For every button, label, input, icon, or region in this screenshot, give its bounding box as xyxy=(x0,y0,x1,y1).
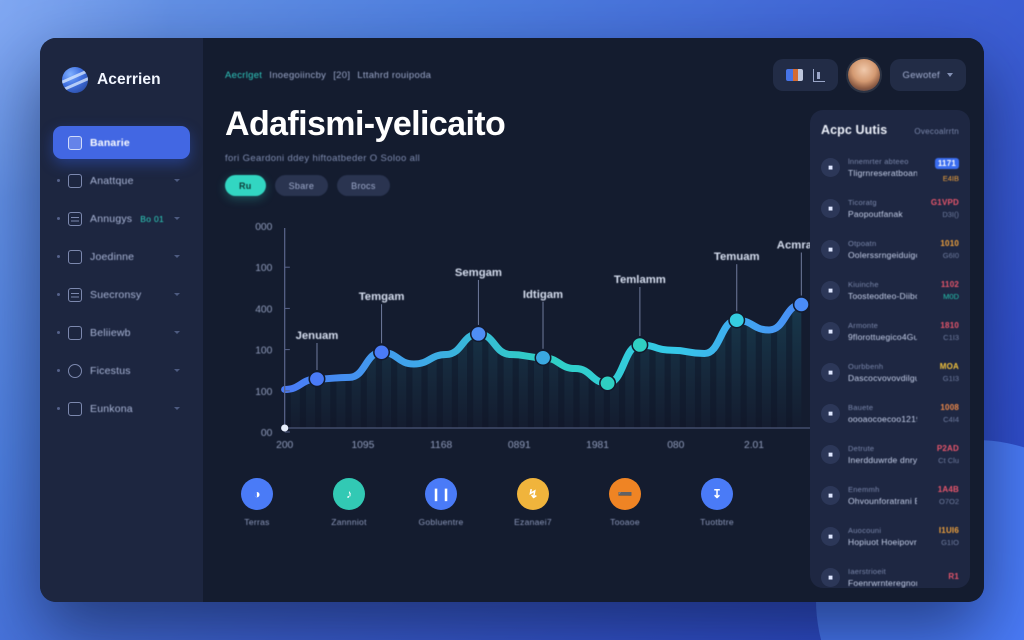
bullet-icon xyxy=(57,179,60,182)
list-item-text: OurbbenhDascocvovovdilgu xyxy=(848,362,917,383)
svg-text:Semgam: Semgam xyxy=(455,267,502,279)
sidebar-item-5[interactable]: Beliiewb xyxy=(53,316,190,349)
right-panel-link[interactable]: Ovecoalrrtn xyxy=(914,127,959,136)
filter-chip-0[interactable]: Ru xyxy=(225,175,266,196)
status-badge: 1008 xyxy=(925,403,959,412)
circle-info-icon: ◑ xyxy=(241,478,273,510)
stat-item-1[interactable]: ♪Zannniot xyxy=(325,478,373,527)
chevron-down-icon xyxy=(174,293,180,296)
globe-logo-icon xyxy=(62,67,88,93)
battery-icon: ■ xyxy=(821,363,840,382)
right-panel-title: Acpc Uutis xyxy=(821,123,887,137)
music-note-icon: ♪ xyxy=(333,478,365,510)
list-item-values: 1171E4IB xyxy=(925,153,959,183)
filter-chip-1[interactable]: Sbare xyxy=(275,175,329,196)
topbar-actions: Gewotef xyxy=(773,59,966,91)
topbar: AecrlgetInoegoiincby[20]Lttahrd rouipoda… xyxy=(225,58,966,92)
sidebar-item-1[interactable]: Anattque xyxy=(53,164,190,197)
list-item[interactable]: ■TicoratgPaopoutfanakG1VPDD3I() xyxy=(821,188,959,229)
status-badge: G1VPD xyxy=(925,198,959,207)
stat-item-2[interactable]: ❙❙Gobluentre xyxy=(417,478,465,527)
status-badge: P2AD xyxy=(925,444,959,453)
pause-icon: ❙❙ xyxy=(425,478,457,510)
list-item-title: Dascocvovovdilgu xyxy=(848,373,917,383)
status-badge: I1UI6 xyxy=(925,526,959,535)
sidebar: Acerrien BanarieAnattqueAnnugysBo 01Joed… xyxy=(40,38,203,602)
list-item[interactable]: ■EnemmhOhvounforatrani EDI81A4BO7O2 xyxy=(821,475,959,516)
lock-icon: ■ xyxy=(821,322,840,341)
status-badge: 1010 xyxy=(925,239,959,248)
list-icon xyxy=(68,288,82,302)
status-badge: 1171 xyxy=(935,158,959,169)
svg-text:200: 200 xyxy=(276,440,294,451)
stat-label: Tooaoe xyxy=(610,517,640,527)
stat-icon-row: ◑Terras♪Zannniot❙❙Gobluentre↯Ezanaei7➖To… xyxy=(233,478,741,527)
document-icon xyxy=(68,250,82,264)
brand[interactable]: Acerrien xyxy=(40,60,203,100)
status-badge: 1102 xyxy=(925,280,959,289)
bolt-icon: ↯ xyxy=(517,478,549,510)
breadcrumb-item-3[interactable]: Lttahrd rouipoda xyxy=(357,70,431,81)
filter-chip-2[interactable]: Brocs xyxy=(337,175,390,196)
list-item-subtitle: Kiuinche xyxy=(848,280,917,289)
sidebar-item-0[interactable]: Banarie xyxy=(53,126,190,159)
stat-label: Gobluentre xyxy=(418,517,463,527)
list-item[interactable]: ■OtpoatnOolerssrngeiduigc1010G6I0 xyxy=(821,229,959,270)
list-item-title: oooaocoecoo1219 xyxy=(848,414,917,424)
list-item-text: IaerstrioeitFoenrwrnteregnonctrie xyxy=(848,567,917,588)
svg-text:400: 400 xyxy=(255,305,273,316)
svg-text:100: 100 xyxy=(255,346,273,357)
list-item-values: MOAG1I3 xyxy=(925,362,959,383)
list-item[interactable]: ■DetruteInerdduwrde dnryP2ADCt Clu xyxy=(821,434,959,475)
stat-item-4[interactable]: ➖Tooaoe xyxy=(601,478,649,527)
svg-text:1981: 1981 xyxy=(586,440,609,451)
chevron-down-icon xyxy=(174,217,180,220)
list-item-subtitle: Auocouni xyxy=(848,526,917,535)
bullet-icon xyxy=(57,217,60,220)
sidebar-item-label: Banarie xyxy=(90,137,180,149)
list-item-values: I1UI6G1IO xyxy=(925,526,959,547)
list-item-text: DetruteInerdduwrde dnry xyxy=(848,444,917,465)
list-item-values: 1810C1I3 xyxy=(925,321,959,342)
app-window: Acerrien BanarieAnattqueAnnugysBo 01Joed… xyxy=(40,38,984,602)
list-item[interactable]: ■lnnemrter abteeoTligrnreseratboan1171E4… xyxy=(821,147,959,188)
sidebar-item-label: Suecronsy xyxy=(90,289,166,301)
grid-icon: ■ xyxy=(821,527,840,546)
list-item-meta: D3I() xyxy=(925,210,959,219)
dashboard-icon xyxy=(68,136,82,150)
breadcrumb-item-0[interactable]: Aecrlget xyxy=(225,70,262,81)
main-content: AecrlgetInoegoiincby[20]Lttahrd rouipoda… xyxy=(203,38,984,602)
cloud-icon: ■ xyxy=(821,199,840,218)
flag-icon xyxy=(786,69,803,81)
alert-icon: ■ xyxy=(821,240,840,259)
breadcrumb-item-1[interactable]: Inoegoiincby xyxy=(269,70,326,81)
clock-icon: ■ xyxy=(821,281,840,300)
right-panel: Acpc Uutis Ovecoalrrtn ■lnnemrter abteeo… xyxy=(810,110,970,588)
sidebar-item-3[interactable]: Joedinne xyxy=(53,240,190,273)
bar-chart-icon xyxy=(813,69,825,82)
list-item-subtitle: Detrute xyxy=(848,444,917,453)
list-item[interactable]: ■OurbbenhDascocvovovdilguMOAG1I3 xyxy=(821,352,959,393)
chevron-down-icon xyxy=(174,179,180,182)
toolbar-pill[interactable] xyxy=(773,59,838,91)
list-item-meta: G1IO xyxy=(925,538,959,547)
bullet-icon xyxy=(57,407,60,410)
monitor-icon: ■ xyxy=(821,486,840,505)
svg-text:080: 080 xyxy=(667,440,685,451)
svg-text:Jenuam: Jenuam xyxy=(296,330,339,342)
stat-label: Zannniot xyxy=(331,517,366,527)
calendar-icon xyxy=(68,174,82,188)
list-item-text: lnnemrter abteeoTligrnreseratboan xyxy=(848,157,917,178)
minus-icon: ➖ xyxy=(609,478,641,510)
list-item-values: 1A4BO7O2 xyxy=(925,485,959,506)
sidebar-item-label: Ficestus xyxy=(90,365,166,377)
sidebar-item-label: Annugys xyxy=(90,213,132,225)
list-item-text: OtpoatnOolerssrngeiduigc xyxy=(848,239,917,260)
stat-item-3[interactable]: ↯Ezanaei7 xyxy=(509,478,557,527)
list-item-subtitle: Otpoatn xyxy=(848,239,917,248)
list-item-subtitle: lnnemrter abteeo xyxy=(848,157,917,166)
sidebar-item-6[interactable]: Ficestus xyxy=(53,354,190,387)
list-item-meta: G1I3 xyxy=(925,374,959,383)
badge-icon xyxy=(68,402,82,416)
list-item-title: Toosteodteo-Diibcae xyxy=(848,291,917,301)
chevron-down-icon xyxy=(947,73,953,77)
status-badge: 1810 xyxy=(925,321,959,330)
list-item-subtitle: Armonte xyxy=(848,321,917,330)
list-item-values: G1VPDD3I() xyxy=(925,198,959,219)
list-item-title: Hopiuot Hoeipovreitti xyxy=(848,537,917,547)
minus-circle-icon xyxy=(68,364,82,378)
svg-text:100: 100 xyxy=(255,387,273,398)
svg-text:0891: 0891 xyxy=(508,440,531,451)
sidebar-item-7[interactable]: Eunkona xyxy=(53,392,190,425)
list-item[interactable]: ■Baueteoooaocoecoo12191008C4I4 xyxy=(821,393,959,434)
breadcrumb-item-2[interactable]: [20] xyxy=(333,70,350,81)
chevron-down-icon xyxy=(174,255,180,258)
list-item[interactable]: ■Armonte9florottuegico4Guio1810C1I3 xyxy=(821,311,959,352)
download-icon: ↧ xyxy=(701,478,733,510)
list-item-subtitle: Enemmh xyxy=(848,485,917,494)
list-item-meta: Ct Clu xyxy=(925,456,959,465)
list-item-text: Baueteoooaocoecoo1219 xyxy=(848,403,917,424)
status-badge: R1 xyxy=(925,572,959,581)
list-item-meta: G6I0 xyxy=(925,251,959,260)
list-item-values: R1 xyxy=(925,572,959,584)
avatar[interactable] xyxy=(848,59,880,91)
sidebar-item-label: Joedinne xyxy=(90,251,166,263)
bullet-icon xyxy=(57,293,60,296)
right-panel-list: ■lnnemrter abteeoTligrnreseratboan1171E4… xyxy=(821,147,959,588)
sidebar-item-label: Eunkona xyxy=(90,403,166,415)
list-item[interactable]: ■KiuincheToosteodteo-Diibcae1102M0D xyxy=(821,270,959,311)
list-item-meta: E4IB xyxy=(925,174,959,183)
svg-text:100: 100 xyxy=(255,263,273,274)
bullet-icon xyxy=(57,369,60,372)
server-icon: ■ xyxy=(821,404,840,423)
sidebar-nav: BanarieAnattqueAnnugysBo 01JoedinneSuecr… xyxy=(40,126,203,425)
svg-text:1168: 1168 xyxy=(430,440,452,451)
stat-label: Ezanaei7 xyxy=(514,517,552,527)
stat-item-5[interactable]: ↧Tuotbtre xyxy=(693,478,741,527)
share-icon: ■ xyxy=(821,568,840,587)
list-item-meta: M0D xyxy=(925,292,959,301)
list-item-text: KiuincheToosteodteo-Diibcae xyxy=(848,280,917,301)
sidebar-item-badge: Bo 01 xyxy=(140,214,164,224)
chevron-down-icon xyxy=(174,369,180,372)
filter-icon xyxy=(68,326,82,340)
brand-name: Acerrien xyxy=(97,71,161,89)
list-item-text: Armonte9florottuegico4Guio xyxy=(848,321,917,342)
user-menu-label: Gewotef xyxy=(903,70,940,81)
list-item-title: Inerdduwrde dnry xyxy=(848,455,917,465)
chart-icon: ■ xyxy=(821,158,840,177)
list-item-values: P2ADCt Clu xyxy=(925,444,959,465)
sidebar-item-label: Anattque xyxy=(90,175,166,187)
list-item-meta: C1I3 xyxy=(925,333,959,342)
list-item-subtitle: Ticoratg xyxy=(848,198,917,207)
list-item-title: Oolerssrngeiduigc xyxy=(848,250,917,260)
list-item-values: 1102M0D xyxy=(925,280,959,301)
user-menu[interactable]: Gewotef xyxy=(890,59,966,91)
breadcrumb: AecrlgetInoegoiincby[20]Lttahrd rouipoda xyxy=(225,70,431,81)
status-badge: 1A4B xyxy=(925,485,959,494)
right-panel-header: Acpc Uutis Ovecoalrrtn xyxy=(821,123,959,137)
stat-label: Terras xyxy=(244,517,269,527)
chevron-down-icon xyxy=(174,331,180,334)
list-item-values: 1010G6I0 xyxy=(925,239,959,260)
list-item-title: Tligrnreseratboan xyxy=(848,168,917,178)
sidebar-item-label: Beliiewb xyxy=(90,327,166,339)
list-item-meta: O7O2 xyxy=(925,497,959,506)
svg-text:Temgam: Temgam xyxy=(359,291,405,303)
svg-text:000: 000 xyxy=(255,222,273,233)
svg-text:1095: 1095 xyxy=(351,440,374,451)
list-item[interactable]: ■IaerstrioeitFoenrwrnteregnonctrieR1 xyxy=(821,557,959,588)
svg-text:Temuam: Temuam xyxy=(714,251,760,263)
list-item-text: EnemmhOhvounforatrani EDI8 xyxy=(848,485,917,506)
sidebar-item-4[interactable]: Suecronsy xyxy=(53,278,190,311)
bullet-icon xyxy=(57,255,60,258)
status-badge: MOA xyxy=(925,362,959,371)
list-item-title: Paopoutfanak xyxy=(848,209,917,219)
stat-item-0[interactable]: ◑Terras xyxy=(233,478,281,527)
list-item-text: AuocouniHopiuot Hoeipovreitti xyxy=(848,526,917,547)
list-item-title: 9florottuegico4Guio xyxy=(848,332,917,342)
chevron-down-icon xyxy=(174,407,180,410)
svg-text:2.01: 2.01 xyxy=(744,440,764,451)
list-item-title: Foenrwrnteregnonctrie xyxy=(848,578,917,588)
list-item-subtitle: Ourbbenh xyxy=(848,362,917,371)
svg-text:00: 00 xyxy=(261,428,273,439)
sidebar-item-2[interactable]: AnnugysBo 01 xyxy=(53,202,190,235)
stat-label: Tuotbtre xyxy=(700,517,734,527)
ruler-icon: ■ xyxy=(821,445,840,464)
svg-text:Temlamm: Temlamm xyxy=(614,274,666,286)
list-item[interactable]: ■AuocouniHopiuot HoeipovreittiI1UI6G1IO xyxy=(821,516,959,557)
list-item-subtitle: Bauete xyxy=(848,403,917,412)
bullet-icon xyxy=(57,331,60,334)
list-item-meta: C4I4 xyxy=(925,415,959,424)
list-item-title: Ohvounforatrani EDI8 xyxy=(848,496,917,506)
list-item-subtitle: Iaerstrioeit xyxy=(848,567,917,576)
svg-text:Idtigam: Idtigam xyxy=(523,289,563,301)
layers-icon xyxy=(68,212,82,226)
list-item-text: TicoratgPaopoutfanak xyxy=(848,198,917,219)
list-item-values: 1008C4I4 xyxy=(925,403,959,424)
